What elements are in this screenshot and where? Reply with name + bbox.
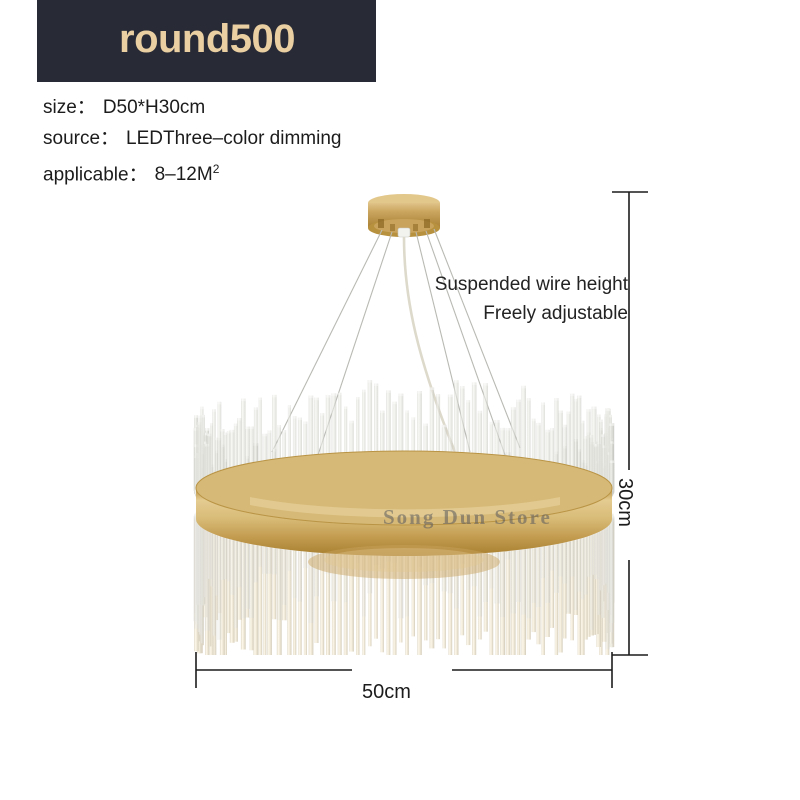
spec-label-size: size <box>43 97 77 118</box>
crystal-rod <box>254 407 258 466</box>
crystal-rod-tip <box>282 430 286 433</box>
crystal-rod <box>356 397 359 456</box>
crystal-rod-tip <box>511 407 516 410</box>
crystal-rod-tip <box>277 425 281 428</box>
crystal-rod <box>521 386 526 462</box>
crystal-rod <box>241 399 246 469</box>
crystal-rod <box>362 390 365 456</box>
crystal-rod-tip <box>259 398 262 401</box>
crystal-rod <box>293 416 297 461</box>
inner-gold-plate <box>308 545 500 579</box>
crystal-rod <box>460 386 464 456</box>
crystal-rod-tip <box>314 398 319 401</box>
crystal-rod-tip <box>262 434 267 437</box>
crystal-rod-tip <box>393 402 397 405</box>
crystal-rod-tip <box>386 390 391 393</box>
crystal-rod-tip <box>610 461 615 464</box>
crystal-rod-tip <box>567 412 571 415</box>
crystal-rod-tip <box>412 417 416 420</box>
crystal-rod-tip <box>380 411 385 414</box>
width-label-gap <box>352 660 452 680</box>
spec-row-applicable: applicable：8–12M2 <box>43 154 463 190</box>
spec-row-size: size：D50*H30cm <box>43 92 463 123</box>
crystal-rod <box>368 380 372 455</box>
crystal-rod <box>259 398 262 466</box>
crystal-rod <box>277 425 281 462</box>
crystal-rod-tip <box>220 429 224 432</box>
crystal-rod-tip <box>577 396 581 399</box>
crystal-rod-tip <box>610 441 613 444</box>
crystal-rod <box>558 411 562 468</box>
crystal-rod-tip <box>448 395 453 398</box>
crystal-rod-tip <box>467 400 471 403</box>
crystal-rod-tip <box>554 398 558 401</box>
crystal-rod <box>344 407 347 457</box>
spec-label-source: source <box>43 128 100 149</box>
crystal-rod <box>380 411 385 456</box>
crystal-rod-tip <box>218 402 222 405</box>
crystal-rod-tip <box>601 434 605 437</box>
crystal-rod-tip <box>516 400 520 403</box>
gold-ring-band <box>196 451 612 556</box>
title-banner: round500 <box>37 0 376 82</box>
crystal-rod <box>495 420 500 459</box>
crystal-rod <box>412 417 416 455</box>
spec-value-applicable: 8–12M <box>155 164 213 185</box>
crystal-rod-tip <box>272 395 277 398</box>
crystal-rod-tip <box>562 425 567 428</box>
crystal-rod-tip <box>304 422 308 425</box>
crystal-rod-tip <box>268 430 272 433</box>
spec-row-source: source：LEDThree–color dimming <box>43 123 463 154</box>
crystal-rod-tip <box>558 411 562 414</box>
crystal-rod-tip <box>570 394 574 397</box>
crystal-rod <box>399 394 404 455</box>
spec-value-size: D50*H30cm <box>103 97 205 118</box>
crystal-rod-tip <box>293 416 297 419</box>
crystal-rod-tip <box>417 391 422 394</box>
ceiling-canopy <box>368 194 440 237</box>
crystal-rod <box>467 400 471 457</box>
crystal-rod <box>490 422 493 459</box>
crystal-rod-tip <box>230 430 235 433</box>
crystal-rod-tip <box>204 442 207 445</box>
crystal-rod <box>386 390 391 455</box>
crystal-rod-tip <box>338 393 341 396</box>
crystal-rod-tip <box>609 415 612 418</box>
crystal-rod <box>536 423 540 464</box>
crystal-rod <box>314 398 319 459</box>
model-name-title: round500 <box>119 17 295 62</box>
crystal-rod <box>483 383 488 458</box>
crystal-rod <box>282 430 286 462</box>
product-spec-image: round500 size：D50*H30cm source：LEDThree–… <box>0 0 800 800</box>
spec-value-superscript: 2 <box>213 162 220 176</box>
crystal-rod-tip <box>406 410 409 413</box>
crystal-rod-tip <box>374 384 378 387</box>
crystal-rod-tip <box>326 395 331 398</box>
crystal-rod <box>424 424 428 456</box>
crystal-rod <box>472 382 477 457</box>
crystal-rod-tip <box>521 386 526 389</box>
crystal-rod-tip <box>532 419 536 422</box>
crystal-rod-tip <box>546 430 550 433</box>
crystal-rod-tip <box>550 428 554 431</box>
crystal-rod-tip <box>331 393 336 396</box>
crystal-rod <box>430 387 434 455</box>
crystal-rod <box>224 433 227 474</box>
crystal-rod <box>567 412 571 470</box>
crystal-rod <box>309 396 314 459</box>
crystal-rod-tip <box>581 421 585 424</box>
crystal-rod-tip <box>356 397 359 400</box>
crystal-rod-tip <box>574 399 577 402</box>
crystal-rod-tip <box>298 418 302 421</box>
crystal-rod-tip <box>249 427 254 430</box>
crystal-rod-tip <box>245 427 250 430</box>
crystal-rod-tip <box>254 407 258 410</box>
crystal-rod <box>532 419 536 463</box>
crystal-rod-tip <box>460 386 464 389</box>
crystal-rod-tip <box>350 421 354 424</box>
crystal-rod-tip <box>442 425 447 428</box>
spec-label-applicable: applicable <box>43 164 129 185</box>
crystal-rod-tip <box>241 399 246 402</box>
crystal-rod <box>448 395 453 456</box>
crystal-rod-tip <box>368 380 372 383</box>
crystal-rod-tip <box>320 413 324 416</box>
crystal-rod-tip <box>454 380 459 383</box>
crystal-rod <box>249 427 254 467</box>
crystal-rod-tip <box>288 405 291 408</box>
crystal-rod-tip <box>506 428 511 431</box>
crystal-rod-tip <box>399 394 404 397</box>
crystal-rod-tip <box>592 407 597 410</box>
crystal-rod <box>516 400 520 462</box>
crystal-rod-tip <box>495 420 500 423</box>
crystal-rod-tip <box>527 398 531 401</box>
crystal-rod-tip <box>205 428 209 431</box>
crystal-rod <box>577 396 581 473</box>
crystal-rod-tip <box>472 382 477 385</box>
crystal-rod <box>268 430 272 463</box>
crystal-rod <box>506 549 511 655</box>
crystal-rod-tip <box>490 422 493 425</box>
callout-line-1: Suspended wire height <box>388 270 628 299</box>
crystal-rod-tip <box>436 394 440 397</box>
height-dimension-label: 30cm <box>613 478 636 527</box>
crystal-rod <box>454 380 459 456</box>
spec-separator: ： <box>129 164 148 185</box>
crystal-rod <box>527 398 531 462</box>
crystal-rod-tip <box>483 383 488 386</box>
crystal-rod <box>326 395 331 457</box>
crystal-rod <box>574 399 577 471</box>
crystal-rod <box>298 418 302 460</box>
crystal-rod <box>350 421 354 456</box>
crystal-rod <box>550 428 554 466</box>
crystal-rod-tip <box>344 407 347 410</box>
crystal-rod <box>436 394 440 455</box>
crystal-rod <box>417 391 422 455</box>
crystal-rod <box>331 393 336 457</box>
crystal-rod-tip <box>599 420 603 423</box>
crystal-rod <box>442 425 447 456</box>
crystal-rod-tip <box>202 415 205 418</box>
crystal-rod <box>272 395 277 463</box>
crystal-rod <box>374 384 378 456</box>
crystal-rod <box>546 430 550 465</box>
crystal-rod <box>230 430 235 471</box>
width-dimension-label: 50cm <box>362 681 411 704</box>
crystal-rod-tip <box>224 433 227 436</box>
spec-value-source: LEDThree–color dimming <box>126 128 341 149</box>
crystal-rod-tip <box>430 387 434 390</box>
crystal-rod-tip <box>500 428 504 431</box>
crystal-rod <box>562 425 567 469</box>
callout-line-2: Freely adjustable <box>388 299 628 328</box>
crystal-rod-tip <box>309 396 314 399</box>
crystal-rod <box>338 393 341 457</box>
crystal-rod <box>220 429 224 474</box>
specification-list: size：D50*H30cm source：LEDThree–color dim… <box>43 92 463 190</box>
crystal-rod <box>554 398 558 467</box>
crystal-rod <box>304 422 308 460</box>
spec-separator: ： <box>77 97 96 118</box>
crystal-rod-tip <box>587 409 591 412</box>
crystal-rod-tip <box>597 415 601 418</box>
crystal-rod-tip <box>362 390 365 393</box>
crystal-rod <box>478 411 482 458</box>
crystal-rod <box>288 405 291 461</box>
crystal-rod-tip <box>212 409 215 412</box>
crystal-rod-tip <box>536 423 540 426</box>
crystal-rod <box>406 410 409 455</box>
crystal-rod <box>511 407 516 460</box>
crystal-rod <box>610 516 615 623</box>
crystal-rod-tip <box>607 409 611 412</box>
crystal-rod-tip <box>478 411 482 414</box>
crystal-rod-tip <box>194 415 198 418</box>
crystal-rod <box>320 413 324 458</box>
crystal-rod <box>570 394 574 471</box>
spec-separator: ： <box>100 128 119 149</box>
crystal-rod <box>245 427 250 468</box>
suspension-callout: Suspended wire height Freely adjustable <box>388 270 628 328</box>
crystal-rod <box>541 403 545 465</box>
crystal-rod-tip <box>609 423 614 426</box>
crystal-rod-tip <box>541 403 545 406</box>
crystal-rod <box>393 402 397 455</box>
crystal-rod-tip <box>200 407 203 410</box>
crystal-rod-tip <box>424 424 428 427</box>
